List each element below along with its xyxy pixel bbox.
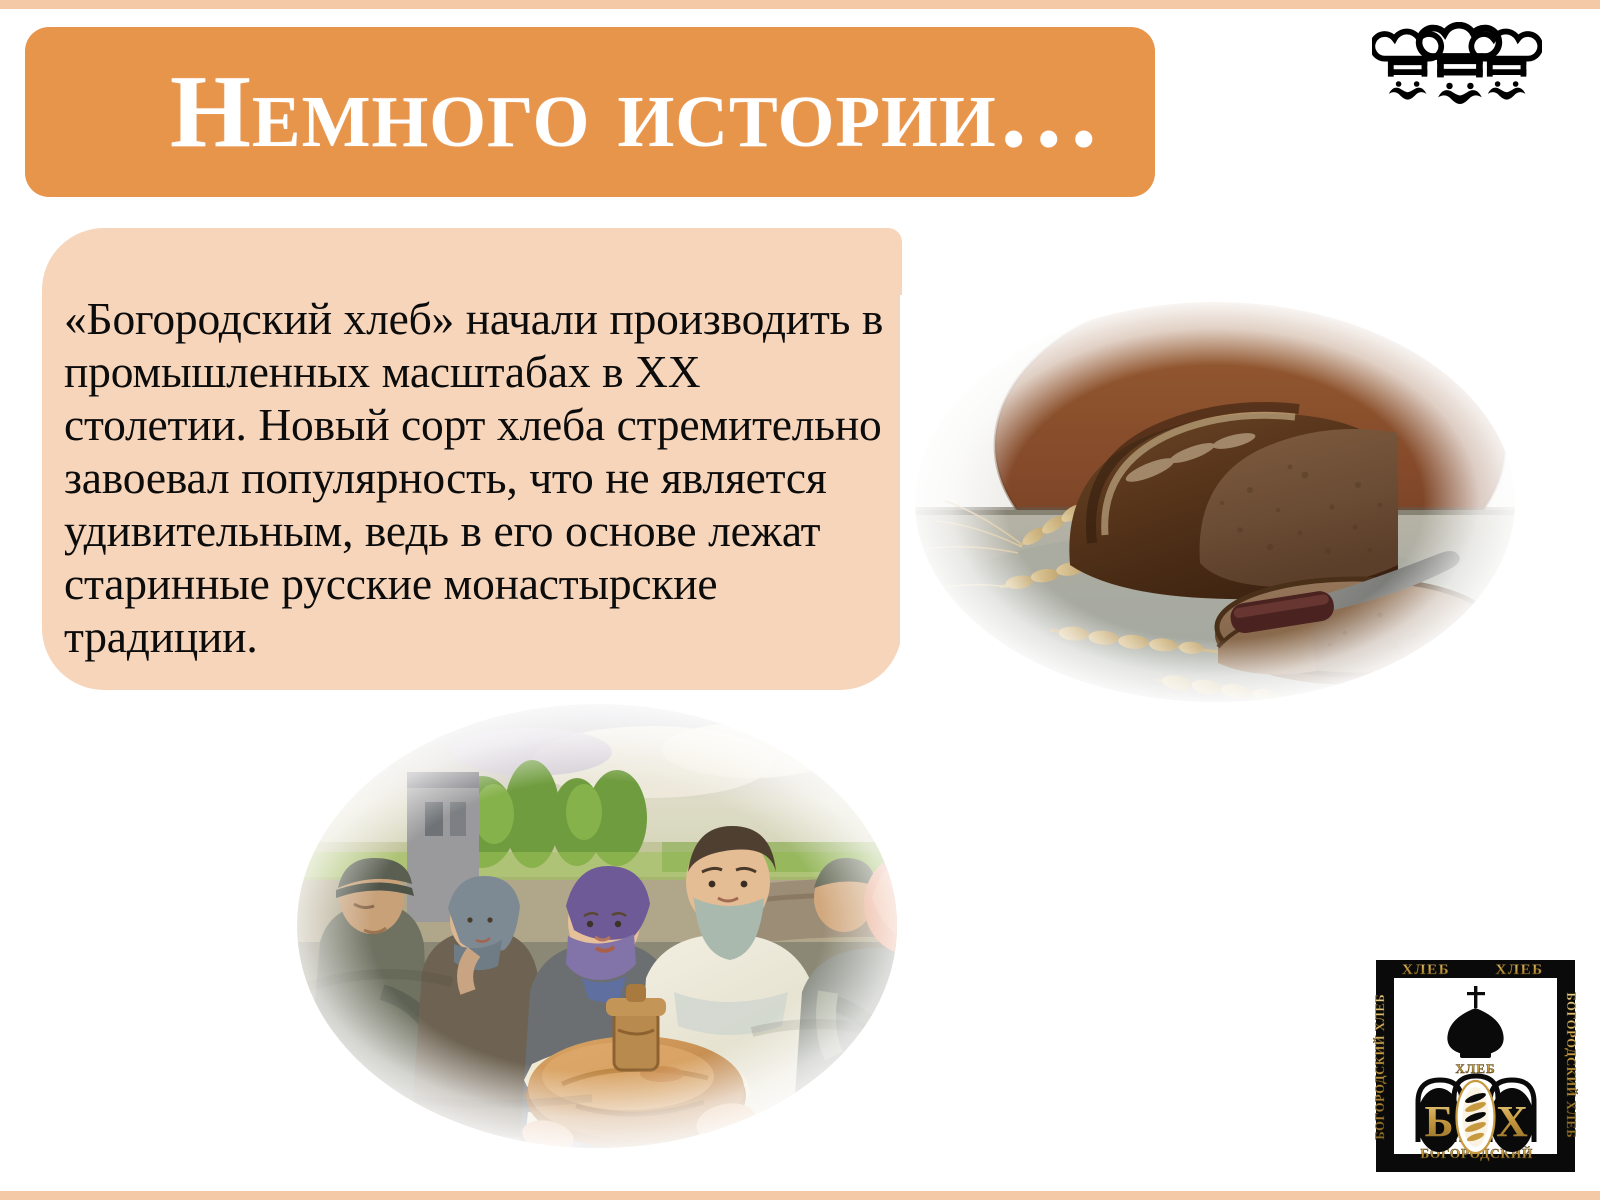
- svg-text:БОГОРОДСКИЙ ХЛЕБ: БОГОРОДСКИЙ ХЛЕБ: [1564, 992, 1578, 1138]
- logo-monogram-left: Б: [1424, 1097, 1453, 1146]
- bread-loaf-icon: [1463, 1087, 1489, 1147]
- page-title: Немного истории…: [170, 60, 1102, 164]
- top-accent-strip: [0, 0, 1600, 9]
- svg-text:ХЛЕБ: ХЛЕБ: [1402, 962, 1450, 978]
- bottom-accent-strip: [0, 1191, 1600, 1200]
- body-paragraph: «Богородский хлеб» начали производить в …: [64, 292, 894, 663]
- body-text-card: «Богородский хлеб» начали производить в …: [42, 228, 902, 690]
- logo-monogram-right: Х: [1496, 1097, 1528, 1146]
- presentation-slide: Немного истории…: [0, 0, 1600, 1200]
- logo-left-words: БОГОРОДСКИЙ ХЛЕБ: [1373, 994, 1387, 1140]
- title-banner: Немного истории…: [25, 27, 1155, 197]
- svg-text:ХЛЕБ: ХЛЕБ: [1496, 962, 1544, 978]
- painting-bread-and-salt: [232, 692, 962, 1160]
- bread-photo: [900, 295, 1530, 710]
- three-chef-hats-icon: [1372, 22, 1542, 122]
- svg-text:БОГОРОДСКИЙ ХЛЕБ: БОГОРОДСКИЙ ХЛЕБ: [1373, 994, 1387, 1140]
- bogorodsky-bread-logo: ХЛЕБ ХЛЕБ БОГОРОДСКИЙ БОГОРОДСКИЙ ХЛЕБ Б…: [1368, 952, 1583, 1180]
- logo-top-right-word: ХЛЕБ: [1496, 962, 1544, 978]
- logo-top-left-word: ХЛЕБ: [1402, 962, 1450, 978]
- logo-right-words: БОГОРОДСКИЙ ХЛЕБ: [1564, 992, 1578, 1138]
